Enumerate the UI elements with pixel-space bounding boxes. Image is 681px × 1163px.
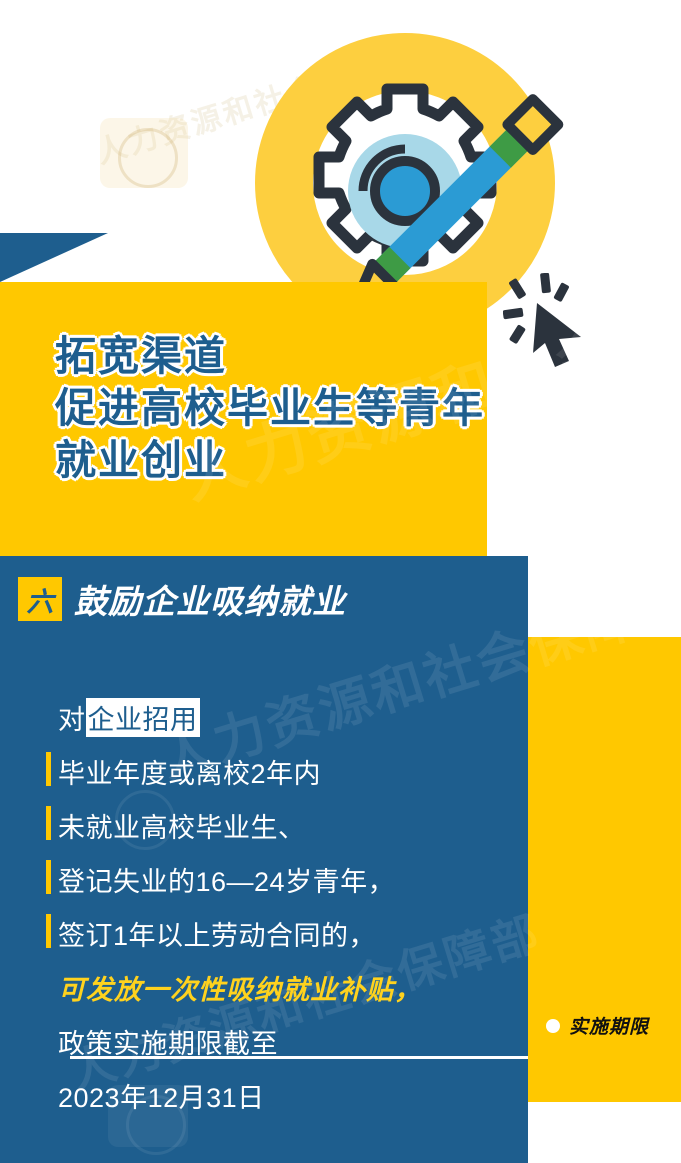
- body-line: 签订1年以上劳动合同的，: [58, 906, 478, 960]
- line-marker-bar: [46, 914, 51, 948]
- click-cursor-icon: [503, 273, 593, 368]
- line-marker-bar: [46, 806, 51, 840]
- section-heading: 鼓励企业吸纳就业: [74, 575, 346, 623]
- body-line-text: 可发放一次性吸纳就业补贴，: [58, 968, 422, 1007]
- body-line-text: 2023年12月31日: [58, 1076, 265, 1115]
- corner-triangle-decoration: [0, 233, 108, 282]
- side-panel-label: 实施期限: [546, 1012, 649, 1039]
- line-marker-bar: [46, 860, 51, 894]
- body-line-text: 签订1年以上劳动合同的，: [58, 914, 376, 953]
- body-line: 毕业年度或离校2年内: [58, 744, 478, 798]
- page-title-line-2: 促进高校毕业生等青年: [55, 382, 485, 434]
- watermark-logo: [100, 118, 188, 188]
- body-line: 2023年12月31日: [58, 1068, 478, 1122]
- page-title-line-1: 拓宽渠道: [55, 330, 485, 382]
- body-line-prefix: 对: [58, 698, 86, 737]
- page-title: 拓宽渠道 促进高校毕业生等青年 就业创业: [55, 330, 485, 486]
- body-line-text: 毕业年度或离校2年内: [58, 752, 321, 791]
- body-line-text: 登记失业的16—24岁青年，: [58, 860, 395, 899]
- body-line-text: 政策实施期限截至: [58, 1022, 278, 1061]
- body-line-accent: 可发放一次性吸纳就业补贴，: [58, 960, 478, 1014]
- body-line-text: 未就业高校毕业生、: [58, 806, 306, 845]
- line-marker-bar: [46, 752, 51, 786]
- watermark-seal: [118, 128, 178, 188]
- page-title-line-3: 就业创业: [55, 434, 485, 486]
- body-line: 对企业招用: [58, 690, 478, 744]
- horizontal-divider: [70, 1056, 528, 1059]
- body-line: 未就业高校毕业生、: [58, 798, 478, 852]
- body-line: 政策实施期限截至: [58, 1014, 478, 1068]
- infographic-poster: 人力资源和社会保障部: [0, 0, 681, 1163]
- body-line: 登记失业的16—24岁青年，: [58, 852, 478, 906]
- section-number-badge: 六: [18, 577, 62, 621]
- body-line-highlight: 企业招用: [86, 698, 200, 737]
- bullet-dot-icon: [546, 1019, 560, 1033]
- side-panel-label-text: 实施期限: [569, 1012, 649, 1039]
